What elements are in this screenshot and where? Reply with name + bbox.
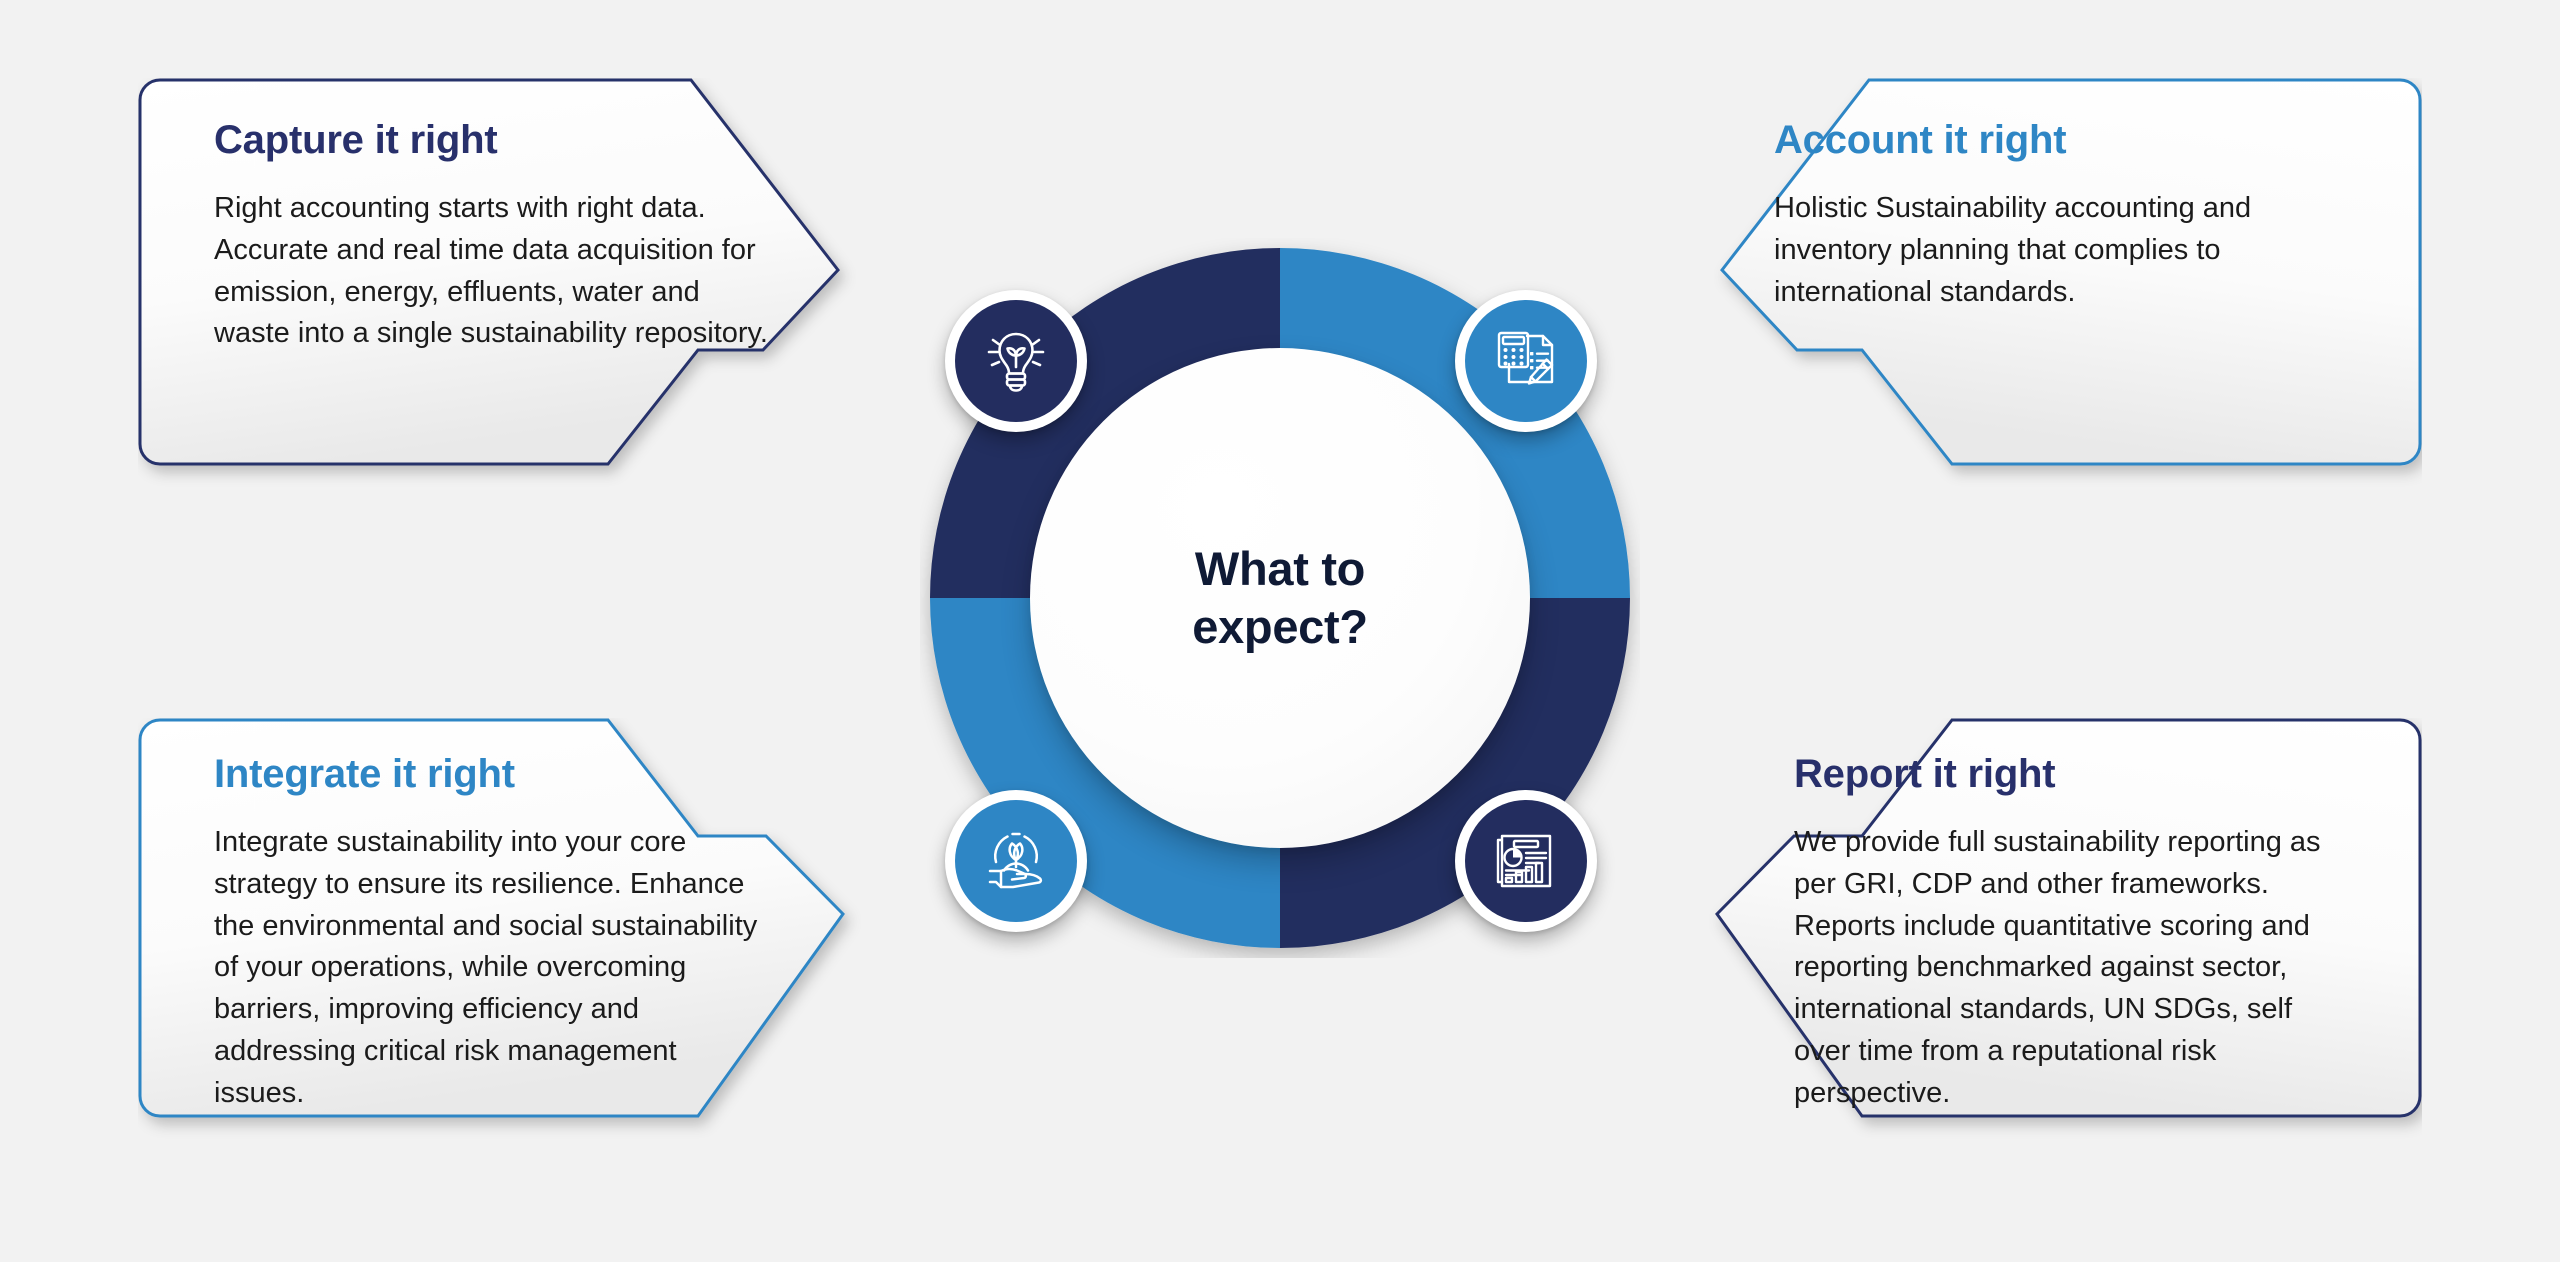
card-capture-title: Capture it right (214, 118, 774, 162)
icon-badge-report[interactable] (1455, 790, 1597, 932)
card-account-content: Account it right Holistic Sustainability… (1774, 118, 2334, 313)
card-report-content: Report it right We provide full sustaina… (1794, 752, 2354, 1114)
lightbulb-leaf-icon (979, 324, 1053, 398)
card-account-title: Account it right (1774, 118, 2334, 162)
card-integrate-body: Integrate sustainability into your core … (214, 822, 774, 1114)
card-account-body: Holistic Sustainability accounting and i… (1774, 188, 2334, 313)
calculator-document-pencil-icon (1489, 324, 1563, 398)
card-capture-content: Capture it right Right accounting starts… (214, 118, 774, 355)
hub-center-disc: What to expect? (1030, 348, 1530, 848)
icon-badge-integrate[interactable] (945, 790, 1087, 932)
card-integrate-it-right[interactable]: Integrate it right Integrate sustainabil… (138, 718, 958, 1158)
hand-holding-plant-icon (979, 824, 1053, 898)
icon-disc-report (1465, 800, 1587, 922)
icon-badge-capture[interactable] (945, 290, 1087, 432)
card-report-it-right[interactable]: Report it right We provide full sustaina… (1602, 718, 2422, 1158)
icon-disc-integrate (955, 800, 1077, 922)
card-report-body: We provide full sustainability reporting… (1794, 822, 2354, 1114)
hub-center-label: What to expect? (1192, 540, 1368, 656)
card-account-it-right[interactable]: Account it right Holistic Sustainability… (1612, 78, 2422, 498)
icon-disc-capture (955, 300, 1077, 422)
card-integrate-title: Integrate it right (214, 752, 774, 796)
icon-disc-account (1465, 300, 1587, 422)
card-report-title: Report it right (1794, 752, 2354, 796)
icon-badge-account[interactable] (1455, 290, 1597, 432)
card-capture-it-right[interactable]: Capture it right Right accounting starts… (138, 78, 948, 498)
infographic-canvas: Capture it right Right accounting starts… (0, 0, 2560, 1262)
report-chart-document-icon (1489, 824, 1563, 898)
card-integrate-content: Integrate it right Integrate sustainabil… (214, 752, 774, 1114)
card-capture-body: Right accounting starts with right data.… (214, 188, 774, 355)
